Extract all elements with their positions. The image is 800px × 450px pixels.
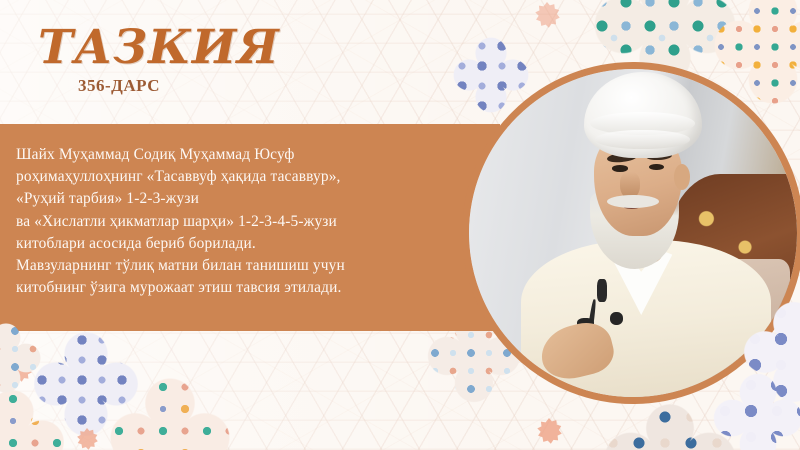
description-text: Шайх Муҳаммад Содиқ Муҳаммад Юсуф роҳима…	[16, 144, 456, 299]
poster-canvas: ТАЗКИЯ 356-ДАРС Шайх Муҳаммад Содиқ Муҳа…	[0, 0, 800, 450]
tile-cloud-peach-bottomleft	[0, 388, 66, 450]
tile-cloud-lightblue-bottomleft	[0, 322, 42, 394]
tile-cloud-blue-bottomright	[600, 404, 740, 450]
photo-eye-left	[612, 165, 628, 172]
page-title: ТАЗКИЯ	[38, 22, 368, 74]
lesson-number: 356-ДАРС	[78, 76, 368, 96]
tile-cloud-peach-bottom	[108, 376, 232, 450]
photo-lapel-mic	[597, 279, 607, 302]
title-block: ТАЗКИЯ 356-ДАРС	[38, 22, 368, 96]
photo-mic-second	[610, 312, 623, 325]
